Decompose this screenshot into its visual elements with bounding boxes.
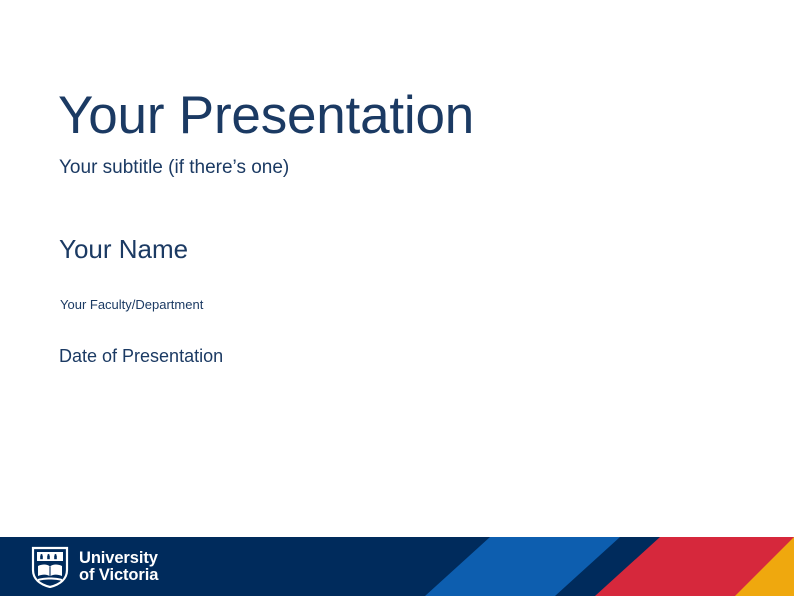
wordmark-line-1: University <box>79 550 158 567</box>
slide-footer: University of Victoria <box>0 537 794 596</box>
presentation-slide: Your Presentation Your subtitle (if ther… <box>0 0 794 596</box>
slide-subtitle: Your subtitle (if there’s one) <box>59 157 718 180</box>
uvic-crest-icon <box>30 546 70 588</box>
slide-content: Your Presentation Your subtitle (if ther… <box>58 88 718 368</box>
wordmark-line-2: of Victoria <box>79 567 158 584</box>
presenter-name: Your Name <box>59 234 718 265</box>
faculty-department: Your Faculty/Department <box>60 297 718 313</box>
presentation-date: Date of Presentation <box>59 346 718 368</box>
page-title: Your Presentation <box>58 88 718 144</box>
uvic-logo: University of Victoria <box>30 546 158 588</box>
uvic-wordmark: University of Victoria <box>79 550 158 585</box>
